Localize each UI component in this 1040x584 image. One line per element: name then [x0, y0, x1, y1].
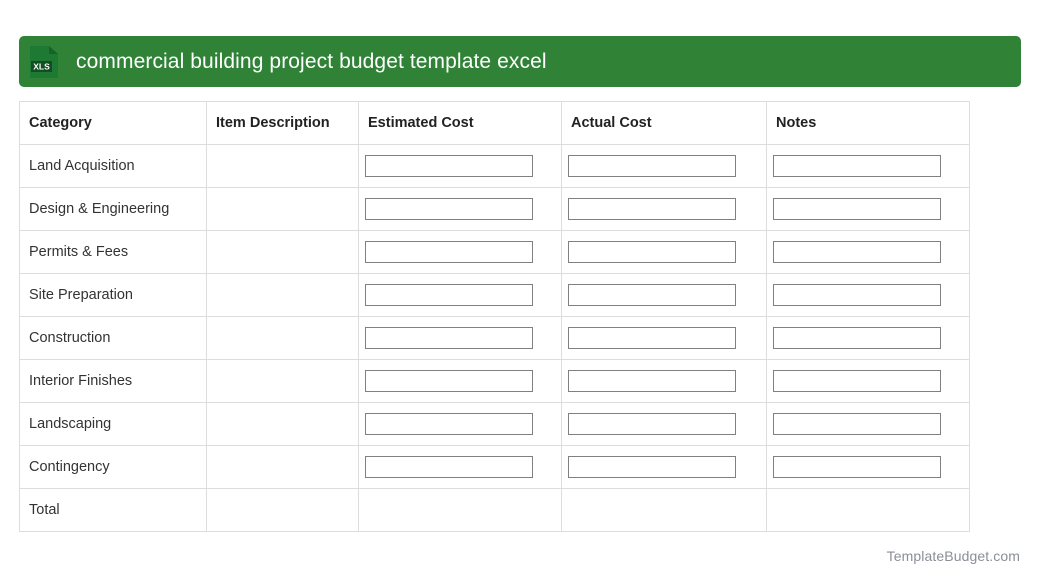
cell-estimated-cost [359, 274, 562, 317]
cell-category-total: Total [20, 489, 207, 532]
cell-estimated-cost [359, 188, 562, 231]
estimated-cost-input[interactable] [365, 413, 533, 435]
cell-actual-cost-total [562, 489, 767, 532]
column-header-estimated: Estimated Cost [359, 102, 562, 145]
table-row: Design & Engineering [20, 188, 970, 231]
table-header-row: Category Item Description Estimated Cost… [20, 102, 970, 145]
actual-cost-input[interactable] [568, 155, 736, 177]
cell-actual-cost [562, 274, 767, 317]
cell-actual-cost [562, 231, 767, 274]
page-root: XLS commercial building project budget t… [0, 0, 1040, 584]
notes-input[interactable] [773, 370, 941, 392]
table-row: Construction [20, 317, 970, 360]
cell-item-description [207, 145, 359, 188]
cell-item-description [207, 446, 359, 489]
svg-text:XLS: XLS [33, 61, 50, 71]
header-banner: XLS commercial building project budget t… [19, 36, 1021, 87]
table-row: Contingency [20, 446, 970, 489]
page-title: commercial building project budget templ… [76, 51, 547, 72]
cell-item-description [207, 231, 359, 274]
estimated-cost-input[interactable] [365, 241, 533, 263]
cell-estimated-cost [359, 360, 562, 403]
estimated-cost-input[interactable] [365, 198, 533, 220]
cell-item-description [207, 317, 359, 360]
table-row: Site Preparation [20, 274, 970, 317]
notes-input[interactable] [773, 327, 941, 349]
cell-item-description [207, 188, 359, 231]
footer-watermark: TemplateBudget.com [887, 548, 1020, 564]
cell-estimated-cost [359, 446, 562, 489]
estimated-cost-input[interactable] [365, 327, 533, 349]
cell-notes [767, 231, 970, 274]
cell-notes [767, 360, 970, 403]
notes-input[interactable] [773, 241, 941, 263]
cell-notes [767, 188, 970, 231]
cell-category: Land Acquisition [20, 145, 207, 188]
notes-input[interactable] [773, 413, 941, 435]
actual-cost-input[interactable] [568, 327, 736, 349]
cell-item-description [207, 274, 359, 317]
table-row: Permits & Fees [20, 231, 970, 274]
cell-estimated-cost [359, 317, 562, 360]
cell-category: Landscaping [20, 403, 207, 446]
table-row-total: Total [20, 489, 970, 532]
actual-cost-input[interactable] [568, 284, 736, 306]
actual-cost-input[interactable] [568, 241, 736, 263]
cell-estimated-cost [359, 145, 562, 188]
actual-cost-input[interactable] [568, 456, 736, 478]
actual-cost-input[interactable] [568, 370, 736, 392]
cell-actual-cost [562, 317, 767, 360]
actual-cost-input[interactable] [568, 198, 736, 220]
cell-actual-cost [562, 360, 767, 403]
cell-item-description-total [207, 489, 359, 532]
cell-category: Interior Finishes [20, 360, 207, 403]
estimated-cost-input[interactable] [365, 155, 533, 177]
cell-estimated-cost-total [359, 489, 562, 532]
cell-item-description [207, 360, 359, 403]
cell-category: Construction [20, 317, 207, 360]
budget-table: Category Item Description Estimated Cost… [19, 101, 970, 532]
cell-estimated-cost [359, 231, 562, 274]
table-row: Land Acquisition [20, 145, 970, 188]
cell-actual-cost [562, 403, 767, 446]
cell-category: Site Preparation [20, 274, 207, 317]
column-header-notes: Notes [767, 102, 970, 145]
estimated-cost-input[interactable] [365, 370, 533, 392]
cell-notes [767, 145, 970, 188]
column-header-category: Category [20, 102, 207, 145]
estimated-cost-input[interactable] [365, 456, 533, 478]
actual-cost-input[interactable] [568, 413, 736, 435]
cell-notes [767, 446, 970, 489]
cell-category: Contingency [20, 446, 207, 489]
cell-notes [767, 274, 970, 317]
estimated-cost-input[interactable] [365, 284, 533, 306]
cell-notes [767, 317, 970, 360]
notes-input[interactable] [773, 198, 941, 220]
table-row: Landscaping [20, 403, 970, 446]
notes-input[interactable] [773, 155, 941, 177]
cell-actual-cost [562, 446, 767, 489]
xls-file-icon: XLS [29, 45, 59, 79]
cell-category: Permits & Fees [20, 231, 207, 274]
table-row: Interior Finishes [20, 360, 970, 403]
notes-input[interactable] [773, 456, 941, 478]
cell-category: Design & Engineering [20, 188, 207, 231]
cell-estimated-cost [359, 403, 562, 446]
notes-input[interactable] [773, 284, 941, 306]
cell-notes-total [767, 489, 970, 532]
column-header-item: Item Description [207, 102, 359, 145]
cell-item-description [207, 403, 359, 446]
cell-actual-cost [562, 145, 767, 188]
column-header-actual: Actual Cost [562, 102, 767, 145]
cell-notes [767, 403, 970, 446]
cell-actual-cost [562, 188, 767, 231]
